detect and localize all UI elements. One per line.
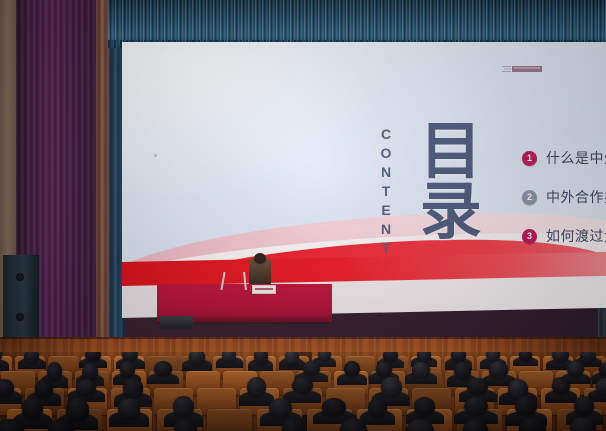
audience-head (552, 377, 570, 394)
toc-label-1: 什么是中外合作办学？ (546, 148, 606, 168)
screen-glare (122, 42, 412, 212)
auditorium-scene: CONTENTS 目录 1 什么是中外合作办学？ 2 中外合作办学的前景（就 3… (0, 0, 606, 431)
audience-head (47, 362, 62, 380)
stage-monitor (160, 316, 193, 329)
audience-head (414, 397, 435, 415)
screen-speck (154, 154, 157, 157)
audience-head (515, 396, 538, 416)
audience-head (247, 377, 266, 396)
slide-subtitle-contents: CONTENTS (378, 126, 394, 278)
audience-head (24, 352, 39, 363)
audience-head (76, 379, 96, 395)
audience-head (154, 361, 172, 376)
toc-badge-3: 3 (522, 229, 537, 244)
audience-head (519, 352, 533, 361)
audience-head (340, 418, 366, 431)
toc-label-3: 如何渡过大学生活 (546, 226, 606, 246)
speaker-cone-lower (16, 313, 24, 321)
presenter-head (254, 253, 266, 264)
audience-head (596, 378, 606, 394)
audience-head (344, 361, 360, 376)
audience-seat (207, 409, 252, 431)
audience-head (292, 377, 313, 394)
seated-audience (0, 352, 606, 431)
stage-valance-top (108, 0, 606, 46)
list-item: 2 中外合作办学的前景（就 (522, 187, 606, 207)
audience-head (376, 362, 393, 377)
audience-head (580, 352, 596, 362)
audience-head (567, 361, 583, 376)
audience-head (574, 396, 594, 415)
audience-head (322, 398, 345, 416)
slide-toc-list: 1 什么是中外合作办学？ 2 中外合作办学的前景（就 3 如何渡过大学生活 (522, 148, 606, 265)
toc-badge-2: 2 (522, 190, 537, 205)
speaker-cone-upper (16, 273, 24, 281)
audience-head (254, 352, 268, 364)
projection-screen: CONTENTS 目录 1 什么是中外合作办学？ 2 中外合作办学的前景（就 3… (122, 42, 606, 285)
slide-title: 目录 (414, 118, 475, 238)
list-item: 1 什么是中外合作办学？ (522, 148, 606, 168)
toc-label-2: 中外合作办学的前景（就 (546, 187, 606, 207)
brand-mark-icon (498, 62, 546, 76)
audience-head (467, 378, 488, 394)
audience-head (269, 398, 292, 418)
audience-head (599, 362, 606, 377)
audience-head (383, 352, 397, 362)
audience-head (368, 398, 387, 417)
audience-head (412, 362, 429, 377)
audience-head (303, 361, 321, 375)
audience-head (552, 352, 568, 362)
audience-head (189, 352, 206, 364)
audience-head (118, 398, 140, 418)
audience-head (417, 352, 431, 361)
audience-head (381, 377, 402, 396)
audience-head (35, 379, 53, 398)
audience-head (451, 352, 466, 362)
toc-badge-1: 1 (522, 151, 537, 166)
audience-head (489, 361, 508, 378)
audience-head (123, 378, 144, 398)
audience-head (120, 361, 135, 377)
audience-head (22, 397, 43, 419)
pa-speaker-cabinet (3, 255, 39, 348)
audience-head (464, 397, 488, 415)
audience-head (285, 352, 300, 364)
audience-head (66, 398, 88, 420)
audience-head (454, 362, 470, 379)
list-item: 3 如何渡过大学生活 (522, 226, 606, 246)
audience-head (173, 396, 194, 416)
name-plate (252, 285, 276, 294)
audience-head (82, 363, 97, 379)
